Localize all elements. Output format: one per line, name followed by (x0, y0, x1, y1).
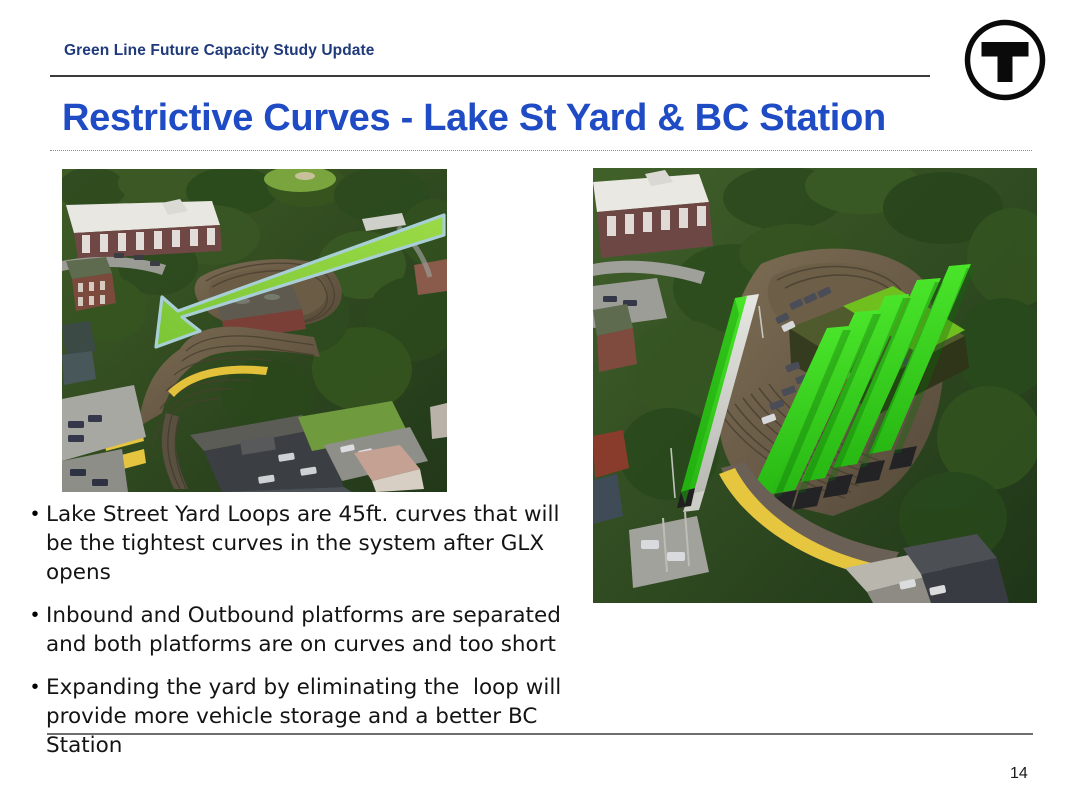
bullet-text: Expanding the yard by eliminating the lo… (46, 673, 584, 760)
bullet-marker-icon: • (24, 601, 46, 630)
title-divider (50, 150, 1032, 151)
list-item: • Lake Street Yard Loops are 45ft. curve… (24, 500, 584, 587)
footer-divider (47, 733, 1033, 735)
list-item: • Expanding the yard by eliminating the … (24, 673, 584, 760)
aerial-rendering-proposed-yard-with-trains (593, 168, 1037, 603)
header-title: Green Line Future Capacity Study Update (64, 42, 375, 60)
list-item: • Inbound and Outbound platforms are sep… (24, 601, 584, 659)
bullet-text: Inbound and Outbound platforms are separ… (46, 601, 584, 659)
bullet-marker-icon: • (24, 500, 46, 529)
bullet-text: Lake Street Yard Loops are 45ft. curves … (46, 500, 584, 587)
page-number: 14 (1010, 765, 1028, 783)
slide-root: Green Line Future Capacity Study Update … (0, 0, 1080, 804)
page-title: Restrictive Curves - Lake St Yard & BC S… (62, 97, 886, 140)
mbta-t-logo-icon (963, 18, 1047, 102)
aerial-photo-existing-lake-street-yard (62, 169, 447, 492)
bullet-marker-icon: • (24, 673, 46, 702)
header-divider (50, 75, 930, 77)
